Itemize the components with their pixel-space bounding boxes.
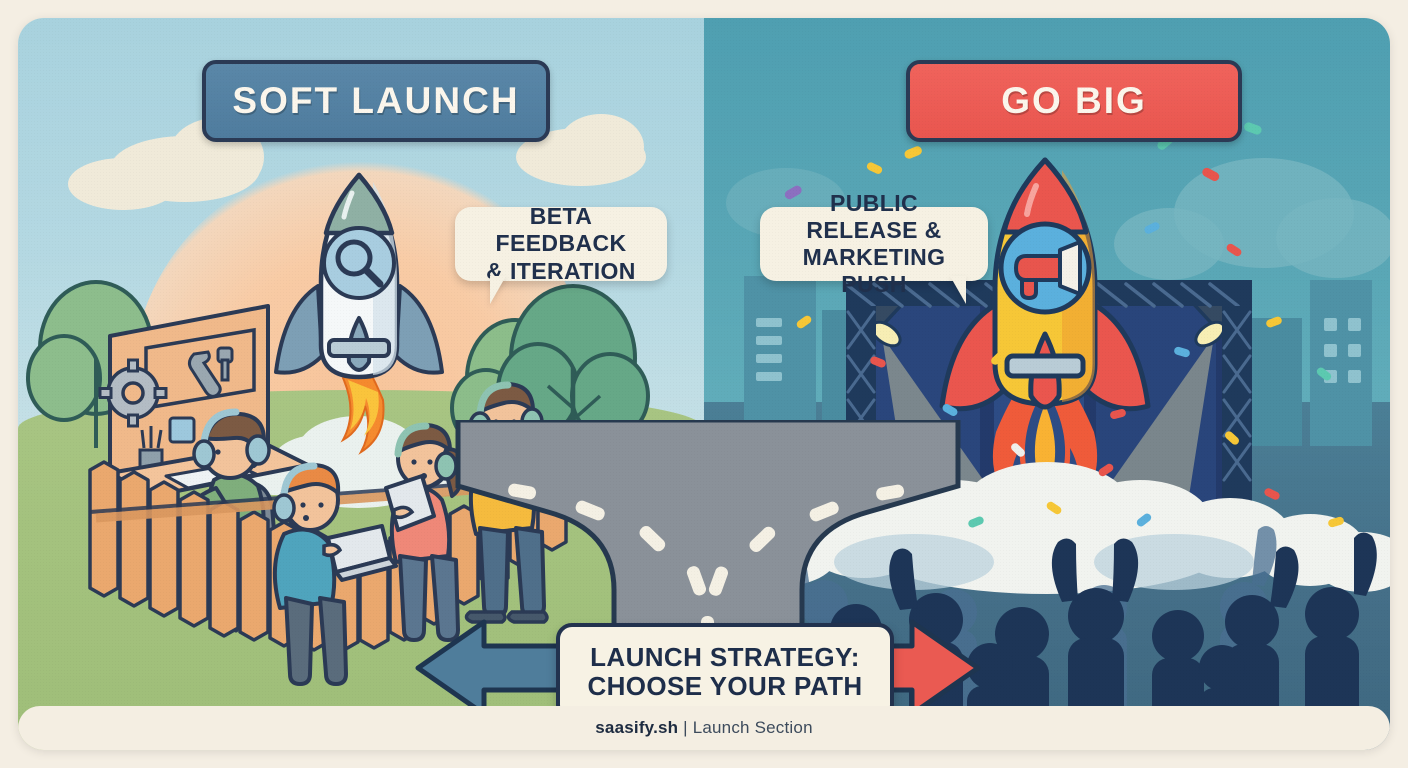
footer-band: saasify.sh | Launch Section	[18, 706, 1390, 750]
footer-separator: |	[678, 718, 692, 737]
plate-title-line2: CHOOSE YOUR PATH	[587, 672, 862, 701]
infographic-card: SOFT LAUNCH BETA FEEDBACK & ITERATION	[18, 18, 1390, 750]
infographic-canvas: SOFT LAUNCH BETA FEEDBACK & ITERATION	[0, 0, 1408, 768]
footer-section: Launch Section	[693, 718, 813, 737]
footer-credit: saasify.sh | Launch Section	[595, 718, 812, 738]
footer-brand: saasify.sh	[595, 718, 678, 737]
plate-title-line1: LAUNCH STRATEGY:	[590, 643, 860, 672]
